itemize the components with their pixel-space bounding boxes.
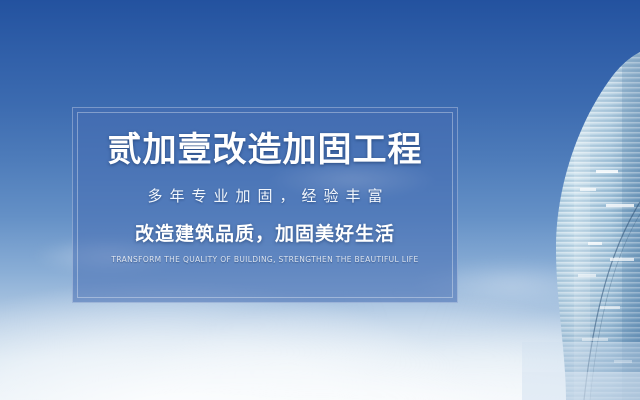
promotional-banner: 贰加壹改造加固工程 多年专业加固，经验丰富 改造建筑品质，加固美好生活 TRAN… bbox=[0, 0, 640, 400]
page-title: 贰加壹改造加固工程 bbox=[108, 132, 423, 169]
hero-text-panel: 贰加壹改造加固工程 多年专业加固，经验丰富 改造建筑品质，加固美好生活 TRAN… bbox=[72, 107, 458, 303]
tagline-slogan: 改造建筑品质，加固美好生活 bbox=[135, 219, 395, 246]
skyscraper-illustration bbox=[522, 52, 640, 400]
english-tagline: TRANSFORM THE QUALITY OF BUILDING, STREN… bbox=[111, 255, 418, 264]
subtitle-experience: 多年专业加固，经验丰富 bbox=[140, 185, 389, 206]
